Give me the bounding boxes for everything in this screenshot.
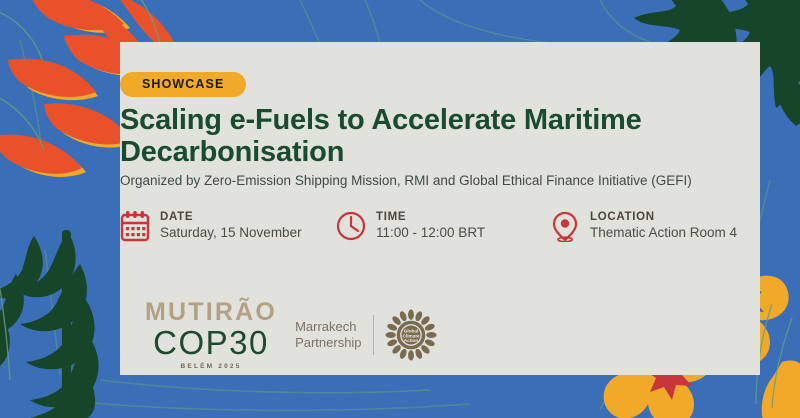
global-climate-action-icon: Global Climate Action: [385, 309, 437, 361]
logo-divider: [373, 315, 374, 355]
time-value: 11:00 - 12:00 BRT: [376, 224, 485, 242]
marrakech-partnership-text: Marrakech Partnership: [295, 319, 361, 352]
marrakech-line-1: Marrakech: [295, 319, 361, 335]
poster-canvas: SHOWCASE Scaling e-Fuels to Accelerate M…: [0, 0, 800, 418]
event-time-item: TIME 11:00 - 12:00 BRT: [336, 210, 485, 242]
cop30-logo: MUTIRÃO COP30 BELÉM 2025: [145, 300, 277, 371]
date-label: DATE: [160, 210, 302, 224]
marrakech-line-2: Partnership: [295, 335, 361, 351]
organizers-subtitle: Organized by Zero-Emission Shipping Miss…: [120, 172, 780, 190]
gca-line-3: Action: [403, 338, 418, 343]
clock-icon: [336, 210, 366, 242]
location-value: Thematic Action Room 4: [590, 224, 737, 242]
marrakech-partnership-logo: Marrakech Partnership: [295, 309, 436, 361]
event-location-item: LOCATION Thematic Action Room 4: [550, 210, 737, 242]
page-title: Scaling e-Fuels to Accelerate Maritime D…: [120, 104, 720, 169]
event-date-item: DATE Saturday, 15 November: [120, 210, 302, 242]
location-label: LOCATION: [590, 210, 737, 224]
time-label: TIME: [376, 210, 485, 224]
calendar-icon: [120, 210, 150, 242]
cop30-text: COP30: [153, 326, 269, 359]
showcase-badge: SHOWCASE: [120, 72, 246, 97]
event-card: SHOWCASE Scaling e-Fuels to Accelerate M…: [120, 42, 760, 375]
location-pin-icon: [550, 210, 580, 242]
cop30-belem-text: BELÉM 2025: [181, 364, 242, 371]
logo-lockup: MUTIRÃO COP30 BELÉM 2025 Marrakech Partn…: [145, 300, 437, 371]
event-details-row: DATE Saturday, 15 November TIME 11:00 - …: [120, 210, 780, 256]
cop30-mutirao-text: MUTIRÃO: [145, 300, 277, 325]
date-value: Saturday, 15 November: [160, 224, 302, 242]
